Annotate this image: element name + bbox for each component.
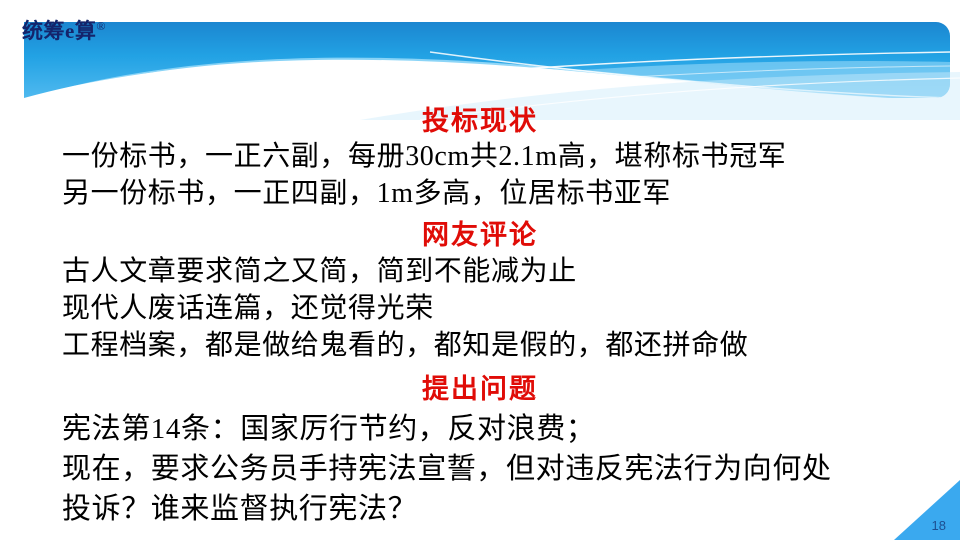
body-line: 古人文章要求简之又简，简到不能减为止 [0,254,960,291]
registered-trademark-icon: ® [96,19,106,33]
section-heading-netizen-comments: 网友评论 [0,220,960,250]
section-heading-bidding-status: 投标现状 [0,106,960,136]
slide-content: 投标现状 一份标书，一正六副，每册30cm共2.1m高，堪称标书冠军 另一份标书… [0,100,960,530]
section-heading-raised-questions: 提出问题 [0,374,960,404]
page-number: 18 [932,519,946,532]
slide-canvas: 统筹e算® 投标现状 一份标书，一正六副，每册30cm共2.1m高，堪称标书冠军… [0,0,960,540]
page-number-corner: 18 [894,480,960,540]
body-line: 现在，要求公务员手持宪法宣誓，但对违反宪法行为向何处 [0,450,960,490]
body-line: 现代人废话连篇，还觉得光荣 [0,291,960,328]
corner-triangle-graphic [894,480,960,540]
body-line: 投诉？谁来监督执行宪法？ [0,490,960,530]
body-line: 工程档案，都是做给鬼看的，都知是假的，都还拼命做 [0,328,960,365]
section-bidding-status: 投标现状 一份标书，一正六副，每册30cm共2.1m高，堪称标书冠军 另一份标书… [0,106,960,213]
body-line: 宪法第14条：国家厉行节约，反对浪费； [0,410,960,450]
body-line: 一份标书，一正六副，每册30cm共2.1m高，堪称标书冠军 [0,139,960,176]
app-logo: 统筹e算® [22,20,106,42]
body-line: 另一份标书，一正四副，1m多高，位居标书亚军 [0,176,960,213]
section-raised-questions: 提出问题 宪法第14条：国家厉行节约，反对浪费； 现在，要求公务员手持宪法宣誓，… [0,374,960,529]
section-netizen-comments: 网友评论 古人文章要求简之又简，简到不能减为止 现代人废话连篇，还觉得光荣 工程… [0,220,960,365]
logo-text: 统筹e算 [22,19,96,43]
